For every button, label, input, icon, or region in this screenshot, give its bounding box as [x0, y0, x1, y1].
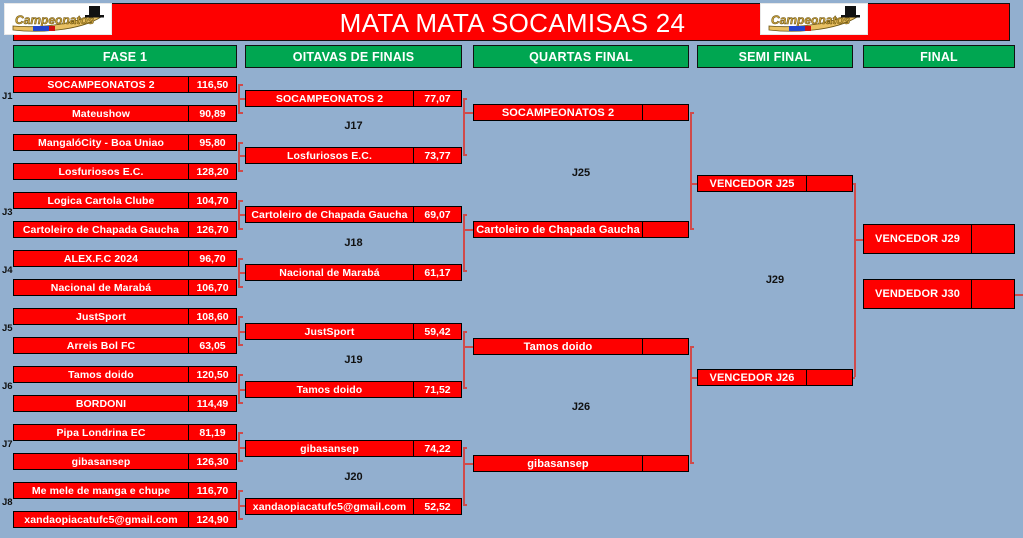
fase1-team-box[interactable]: Nacional de Marabá 106,70 [13, 279, 237, 296]
team-name: Mateushow [14, 106, 188, 121]
team-name: Me mele de manga e chupe [14, 483, 188, 498]
connector [238, 214, 245, 216]
connector [463, 447, 465, 504]
team-score: 71,52 [413, 382, 461, 397]
team-name: Nacional de Marabá [246, 265, 413, 280]
match-label-j5: J5 [2, 323, 13, 334]
fase1-team-box[interactable]: Tamos doido 120,50 [13, 366, 237, 383]
team-score [806, 370, 852, 385]
svg-text:Campeonatos: Campeonatos [771, 13, 851, 27]
team-name: Cartoleiro de Chapada Gaucha [14, 222, 188, 237]
match-label-j7: J7 [2, 439, 13, 450]
team-score: 126,70 [188, 222, 236, 237]
connector [238, 505, 245, 507]
oitavas-team-box[interactable]: Nacional de Marabá 61,17 [245, 264, 462, 281]
quartas-team-box[interactable]: Tamos doido [473, 338, 689, 355]
fase1-team-box[interactable]: Me mele de manga e chupe 116,70 [13, 482, 237, 499]
team-name: JustSport [14, 309, 188, 324]
connector [238, 170, 243, 172]
fase1-team-box[interactable]: gibasansep 126,30 [13, 453, 237, 470]
connector [463, 214, 467, 216]
team-name: VENCEDOR J25 [698, 176, 806, 191]
match-label-j1: J1 [2, 91, 13, 102]
connector [238, 84, 243, 86]
team-name: Cartoleiro de Chapada Gaucha [474, 222, 642, 237]
fase1-team-box[interactable]: Cartoleiro de Chapada Gaucha 126,70 [13, 221, 237, 238]
connector [690, 112, 692, 229]
team-name: VENDEDOR J30 [864, 280, 971, 308]
team-name: SOCAMPEONATOS 2 [474, 105, 642, 120]
campeonatos-logo-icon-right: Campeonatos [760, 3, 868, 35]
team-score [642, 339, 688, 354]
semi-team-box[interactable]: VENCEDOR J25 [697, 175, 853, 192]
match-label-j4: J4 [2, 265, 13, 276]
team-name: SOCAMPEONATOS 2 [246, 91, 413, 106]
round-header-label: OITAVAS DE FINAIS [293, 50, 414, 64]
connector [690, 112, 694, 114]
team-score: 59,42 [413, 324, 461, 339]
match-label-j29: J29 [697, 274, 853, 286]
fase1-team-box[interactable]: MangalóCity - Boa Uniao 95,80 [13, 134, 237, 151]
round-header-oitavas: OITAVAS DE FINAIS [245, 45, 462, 68]
connector [238, 447, 245, 449]
final-team-box[interactable]: VENDEDOR J30 [863, 279, 1015, 309]
connector [463, 98, 467, 100]
team-score: 126,30 [188, 454, 236, 469]
team-score: 63,05 [188, 338, 236, 353]
team-score: 90,89 [188, 106, 236, 121]
connector [463, 270, 467, 272]
bracket-page: MATA MATA SOCAMISAS 24 Campeonatos Campe… [0, 0, 1023, 538]
connector [238, 98, 245, 100]
connector [463, 331, 465, 388]
connector [238, 228, 243, 230]
connector [238, 286, 243, 288]
team-score: 77,07 [413, 91, 461, 106]
match-label-j3: J3 [2, 207, 13, 218]
connector [690, 346, 694, 348]
svg-text:Campeonatos: Campeonatos [15, 13, 95, 27]
round-header-final: FINAL [863, 45, 1015, 68]
team-score: 128,20 [188, 164, 236, 179]
team-name: Losfuriosos E.C. [246, 148, 413, 163]
team-name: VENCEDOR J26 [698, 370, 806, 385]
team-score: 104,70 [188, 193, 236, 208]
connector [463, 214, 465, 271]
team-score [971, 280, 1014, 308]
team-name: BORDONI [14, 396, 188, 411]
fase1-team-box[interactable]: Arreis Bol FC 63,05 [13, 337, 237, 354]
team-score [806, 176, 852, 191]
team-name: gibasansep [474, 456, 642, 471]
fase1-team-box[interactable]: Pipa Londrina EC 81,19 [13, 424, 237, 441]
team-score: 108,60 [188, 309, 236, 324]
fase1-team-box[interactable]: Logica Cartola Clube 104,70 [13, 192, 237, 209]
team-name: ALEX.F.C 2024 [14, 251, 188, 266]
match-label-j19: J19 [245, 354, 462, 366]
quartas-team-box[interactable]: gibasansep [473, 455, 689, 472]
connector [238, 316, 243, 318]
connector [463, 463, 473, 465]
connector [238, 200, 243, 202]
team-score: 74,22 [413, 441, 461, 456]
round-header-label: FASE 1 [103, 50, 147, 64]
connector [238, 389, 245, 391]
connector [238, 374, 243, 376]
team-name: Tamos doido [474, 339, 642, 354]
fase1-team-box[interactable]: BORDONI 114,49 [13, 395, 237, 412]
team-name: Tamos doido [246, 382, 413, 397]
semi-team-box[interactable]: VENCEDOR J26 [697, 369, 853, 386]
team-name: Losfuriosos E.C. [14, 164, 188, 179]
match-label-j18: J18 [245, 237, 462, 249]
team-score: 95,80 [188, 135, 236, 150]
team-score: 81,19 [188, 425, 236, 440]
team-name: xandaopiacatufc5@gmail.com [246, 499, 413, 514]
connector [238, 155, 245, 157]
team-score: 116,50 [188, 77, 236, 92]
round-header-label: QUARTAS FINAL [529, 50, 633, 64]
match-label-j26: J26 [473, 401, 689, 413]
team-name: gibasansep [14, 454, 188, 469]
team-name: Cartoleiro de Chapada Gaucha [246, 207, 413, 222]
fase1-team-box[interactable]: xandaopiacatufc5@gmail.com 124,90 [13, 511, 237, 528]
round-header-label: FINAL [920, 50, 958, 64]
team-score: 124,90 [188, 512, 236, 527]
connector [463, 387, 467, 389]
team-score: 116,70 [188, 483, 236, 498]
team-name: Arreis Bol FC [14, 338, 188, 353]
connector [238, 142, 240, 171]
connector [463, 504, 467, 506]
fase1-team-box[interactable]: Mateushow 90,89 [13, 105, 237, 122]
fase1-team-box[interactable]: Losfuriosos E.C. 128,20 [13, 163, 237, 180]
quartas-team-box[interactable]: SOCAMPEONATOS 2 [473, 104, 689, 121]
match-label-j25: J25 [473, 167, 689, 179]
match-label-j8: J8 [2, 497, 13, 508]
team-name: Pipa Londrina EC [14, 425, 188, 440]
connector [238, 258, 243, 260]
connector [463, 447, 467, 449]
team-score: 52,52 [413, 499, 461, 514]
team-score: 96,70 [188, 251, 236, 266]
team-score [642, 222, 688, 237]
team-score [642, 456, 688, 471]
connector [238, 112, 243, 114]
connector [463, 98, 465, 155]
team-score: 61,17 [413, 265, 461, 280]
connector [238, 272, 245, 274]
connector [238, 490, 243, 492]
match-label-j17: J17 [245, 120, 462, 132]
team-name: gibasansep [246, 441, 413, 456]
connector [238, 402, 243, 404]
team-score: 120,50 [188, 367, 236, 382]
oitavas-team-box[interactable]: Tamos doido 71,52 [245, 381, 462, 398]
connector [463, 346, 473, 348]
oitavas-team-box[interactable]: xandaopiacatufc5@gmail.com 52,52 [245, 498, 462, 515]
connector [238, 142, 243, 144]
fase1-team-box[interactable]: JustSport 108,60 [13, 308, 237, 325]
team-score: 69,07 [413, 207, 461, 222]
team-score: 114,49 [188, 396, 236, 411]
connector [690, 228, 694, 230]
connector [238, 344, 243, 346]
team-name: JustSport [246, 324, 413, 339]
connector [690, 346, 692, 463]
oitavas-team-box[interactable]: SOCAMPEONATOS 2 77,07 [245, 90, 462, 107]
team-name: Logica Cartola Clube [14, 193, 188, 208]
connector [238, 518, 243, 520]
team-name: MangalóCity - Boa Uniao [14, 135, 188, 150]
round-header-label: SEMI FINAL [739, 50, 812, 64]
round-header-semi: SEMI FINAL [697, 45, 853, 68]
quartas-team-box[interactable]: Cartoleiro de Chapada Gaucha [473, 221, 689, 238]
connector [690, 462, 694, 464]
team-score: 73,77 [413, 148, 461, 163]
oitavas-team-box[interactable]: gibasansep 74,22 [245, 440, 462, 457]
connector [463, 229, 473, 231]
team-name: Tamos doido [14, 367, 188, 382]
connector [238, 432, 243, 434]
oitavas-team-box[interactable]: Cartoleiro de Chapada Gaucha 69,07 [245, 206, 462, 223]
team-name: VENCEDOR J29 [864, 225, 971, 253]
fase1-team-box[interactable]: SOCAMPEONATOS 2 116,50 [13, 76, 237, 93]
connector [238, 460, 243, 462]
fase1-team-box[interactable]: ALEX.F.C 2024 96,70 [13, 250, 237, 267]
team-score: 106,70 [188, 280, 236, 295]
team-score [971, 225, 1014, 253]
connector [854, 183, 856, 377]
oitavas-team-box[interactable]: JustSport 59,42 [245, 323, 462, 340]
team-name: xandaopiacatufc5@gmail.com [14, 512, 188, 527]
connector [463, 154, 467, 156]
final-team-box[interactable]: VENCEDOR J29 [863, 224, 1015, 254]
match-label-j6: J6 [2, 381, 13, 392]
team-name: SOCAMPEONATOS 2 [14, 77, 188, 92]
round-header-quartas: QUARTAS FINAL [473, 45, 689, 68]
oitavas-team-box[interactable]: Losfuriosos E.C. 73,77 [245, 147, 462, 164]
team-score [642, 105, 688, 120]
connector [238, 331, 245, 333]
team-name: Nacional de Marabá [14, 280, 188, 295]
campeonatos-logo-icon: Campeonatos [4, 3, 112, 35]
round-header-fase-1: FASE 1 [13, 45, 237, 68]
match-label-j20: J20 [245, 471, 462, 483]
connector [463, 331, 467, 333]
connector [463, 112, 473, 114]
